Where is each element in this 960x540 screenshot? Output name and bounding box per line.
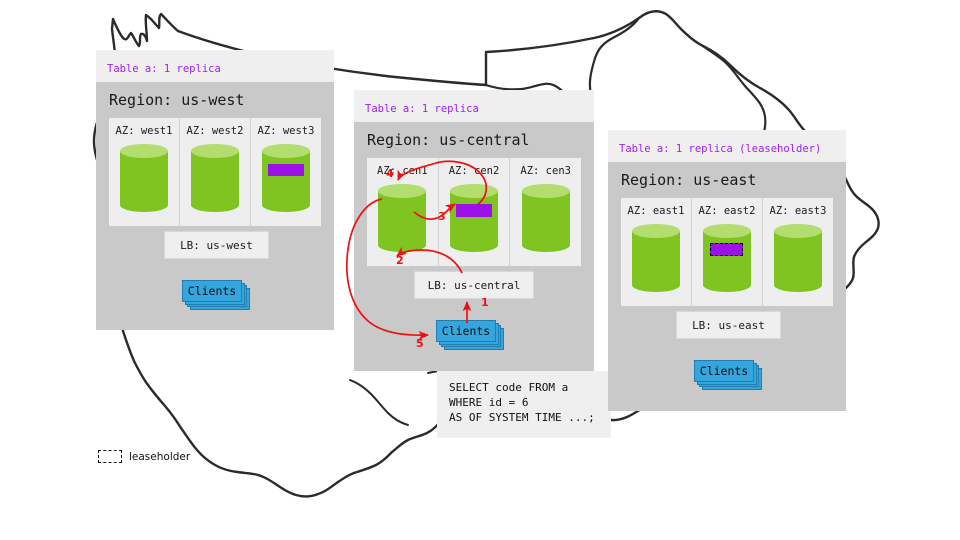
cylinder-top	[703, 224, 751, 238]
az-label: AZ: east3	[770, 205, 827, 217]
az-west2[interactable]: AZ: west2	[180, 118, 251, 226]
az-east1[interactable]: AZ: east1	[621, 198, 692, 306]
node-cylinder-east3[interactable]	[774, 224, 822, 292]
az-label: AZ: cen3	[520, 165, 571, 177]
clients-label[interactable]: Clients	[436, 320, 496, 342]
cylinder-top	[262, 144, 310, 158]
az-label: AZ: east2	[699, 205, 756, 217]
flow-step-number-4: 4	[386, 167, 394, 180]
node-cylinder-east1[interactable]	[632, 224, 680, 292]
region-panel-us-east: Table a: 1 replica (leaseholder) Region:…	[608, 130, 846, 411]
leaseholder-badge-east2	[710, 243, 743, 256]
replica-badge-west3	[268, 164, 304, 176]
az-row-us-central: AZ: cen1 AZ: cen2 AZ: cen3	[367, 158, 581, 266]
clients-label[interactable]: Clients	[182, 280, 242, 302]
region-name-label: Region: us-west	[96, 82, 334, 118]
cylinder-body	[703, 231, 751, 285]
cylinder-body	[262, 151, 310, 205]
cylinder-top	[632, 224, 680, 238]
sql-line-3: AS OF SYSTEM TIME ...;	[449, 410, 599, 425]
clients-stack-us-central[interactable]: Clients	[436, 320, 508, 348]
node-cylinder-west1[interactable]	[120, 144, 168, 212]
az-label: AZ: east1	[628, 205, 685, 217]
clients-stack-us-east[interactable]: Clients	[694, 360, 764, 388]
az-label: AZ: cen2	[449, 165, 500, 177]
cylinder-body	[191, 151, 239, 205]
flow-step-number-3: 3	[438, 210, 446, 223]
region-table-titlebar-us-west: Table a: 1 replica	[96, 50, 334, 82]
cylinder-body	[450, 191, 498, 245]
region-name-label: Region: us-central	[354, 122, 594, 158]
load-balancer-us-west[interactable]: LB: us-west	[164, 231, 269, 259]
region-panel-us-west: Table a: 1 replica Region: us-west AZ: w…	[96, 50, 334, 330]
cylinder-top	[378, 184, 426, 198]
cylinder-body	[522, 191, 570, 245]
cylinder-body	[120, 151, 168, 205]
az-cen2[interactable]: AZ: cen2	[439, 158, 511, 266]
az-west3[interactable]: AZ: west3	[251, 118, 321, 226]
az-east2[interactable]: AZ: east2	[692, 198, 763, 306]
node-cylinder-cen1[interactable]	[378, 184, 426, 252]
clients-stack-us-west[interactable]: Clients	[182, 280, 252, 308]
region-table-label: Table a: 1 replica	[365, 103, 479, 115]
sql-query-box: SELECT code FROM a WHERE id = 6 AS OF SY…	[437, 371, 611, 438]
flow-step-number-2: 2	[396, 254, 404, 267]
cylinder-body	[774, 231, 822, 285]
az-label: AZ: cen1	[377, 165, 428, 177]
az-row-us-east: AZ: east1 AZ: east2 AZ: east3	[621, 198, 833, 306]
az-label: AZ: west3	[258, 125, 315, 137]
region-table-label: Table a: 1 replica	[107, 63, 221, 75]
cylinder-body	[632, 231, 680, 285]
region-table-label: Table a: 1 replica (leaseholder)	[619, 143, 821, 155]
node-cylinder-east2[interactable]	[703, 224, 751, 292]
replica-badge-cen2	[456, 204, 492, 217]
node-cylinder-cen2[interactable]	[450, 184, 498, 252]
load-balancer-us-central[interactable]: LB: us-central	[414, 271, 534, 299]
legend-label: leaseholder	[129, 451, 190, 463]
az-west1[interactable]: AZ: west1	[109, 118, 180, 226]
cylinder-top	[522, 184, 570, 198]
diagram-canvas: Table a: 1 replica Region: us-west AZ: w…	[0, 0, 960, 540]
cylinder-top	[191, 144, 239, 158]
cylinder-top	[120, 144, 168, 158]
az-east3[interactable]: AZ: east3	[763, 198, 833, 306]
flow-step-number-1: 1	[481, 296, 489, 309]
legend: leaseholder	[98, 450, 190, 463]
az-cen1[interactable]: AZ: cen1	[367, 158, 439, 266]
az-label: AZ: west1	[116, 125, 173, 137]
cylinder-body	[378, 191, 426, 245]
az-row-us-west: AZ: west1 AZ: west2 AZ: west3	[109, 118, 321, 226]
dashed-rect-icon	[98, 450, 122, 463]
sql-line-2: WHERE id = 6	[449, 395, 599, 410]
node-cylinder-west3[interactable]	[262, 144, 310, 212]
az-label: AZ: west2	[187, 125, 244, 137]
sql-line-1: SELECT code FROM a	[449, 380, 599, 395]
cylinder-top	[774, 224, 822, 238]
node-cylinder-west2[interactable]	[191, 144, 239, 212]
clients-label[interactable]: Clients	[694, 360, 754, 382]
region-name-label: Region: us-east	[608, 162, 846, 198]
region-panel-us-central: Table a: 1 replica Region: us-central AZ…	[354, 90, 594, 371]
flow-step-number-5: 5	[416, 337, 424, 350]
load-balancer-us-east[interactable]: LB: us-east	[676, 311, 781, 339]
region-table-titlebar-us-east: Table a: 1 replica (leaseholder)	[608, 130, 846, 162]
cylinder-top	[450, 184, 498, 198]
region-table-titlebar-us-central: Table a: 1 replica	[354, 90, 594, 122]
az-cen3[interactable]: AZ: cen3	[510, 158, 581, 266]
node-cylinder-cen3[interactable]	[522, 184, 570, 252]
